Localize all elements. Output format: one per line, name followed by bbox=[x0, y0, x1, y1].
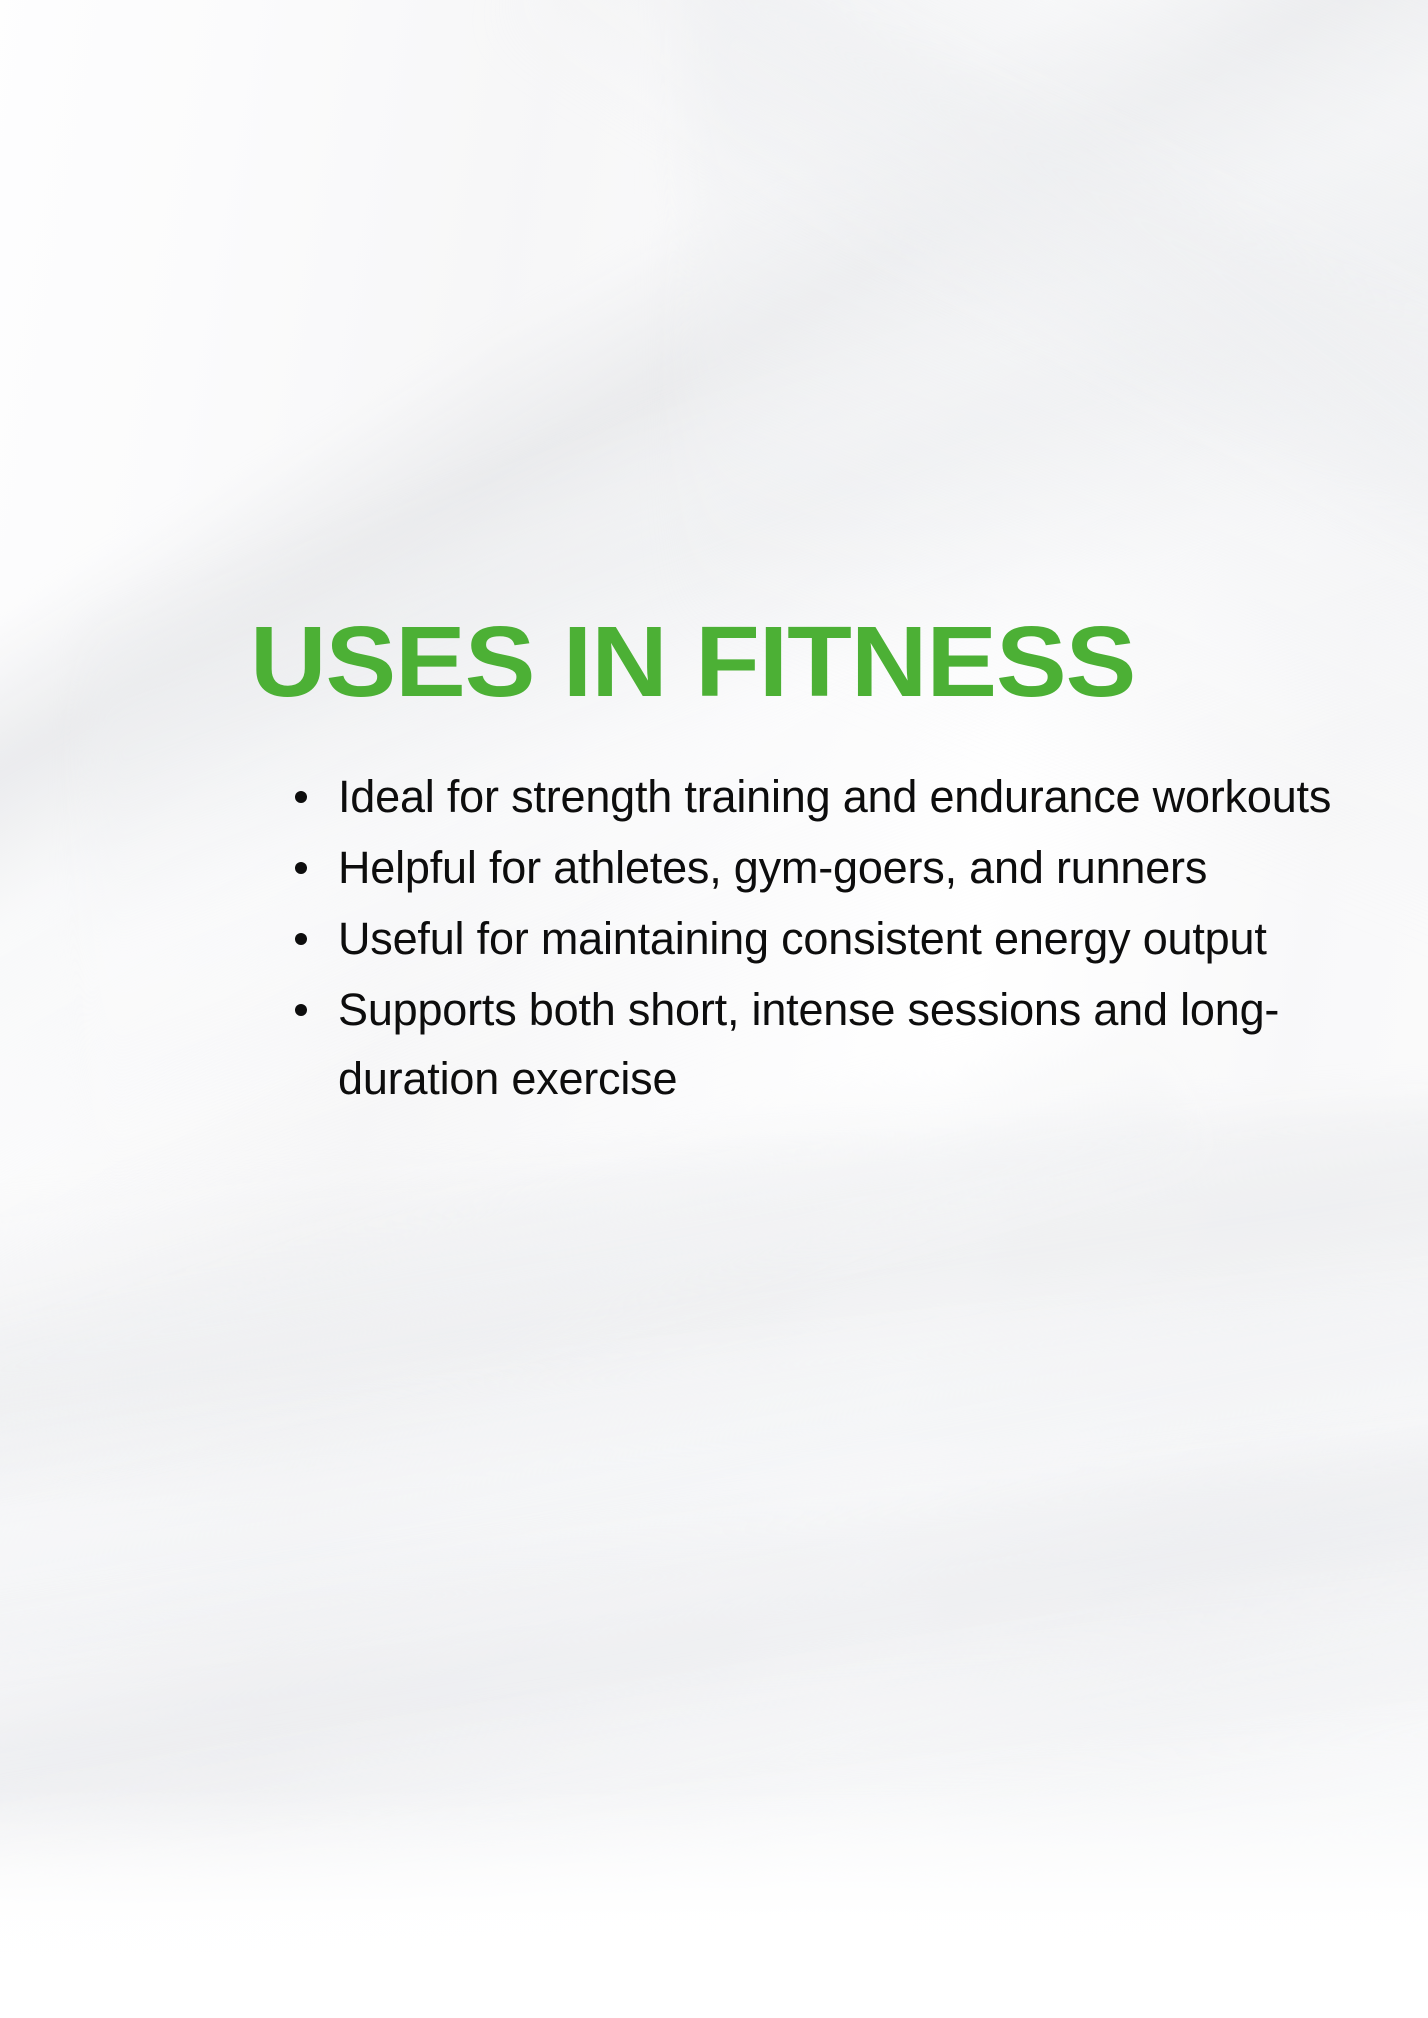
bullet-point-icon bbox=[295, 791, 307, 803]
list-item-label: Ideal for strength training and enduranc… bbox=[338, 762, 1405, 831]
slide-content: USES IN FITNESS Ideal for strength train… bbox=[0, 0, 1428, 2018]
list-item-label: Useful for maintaining consistent energy… bbox=[338, 904, 1405, 973]
page-title: USES IN FITNESS bbox=[250, 612, 1135, 712]
slide-canvas: USES IN FITNESS Ideal for strength train… bbox=[0, 0, 1428, 2018]
bullet-point-icon bbox=[295, 862, 307, 874]
bullet-list: Ideal for strength training and enduranc… bbox=[290, 762, 1405, 1115]
bullet-point-icon bbox=[295, 1004, 307, 1016]
list-item: Useful for maintaining consistent energy… bbox=[290, 904, 1405, 973]
list-item: Helpful for athletes, gym-goers, and run… bbox=[290, 833, 1405, 902]
list-item-label: Supports both short, intense sessions an… bbox=[338, 975, 1405, 1113]
bullet-point-icon bbox=[295, 933, 307, 945]
list-item: Ideal for strength training and enduranc… bbox=[290, 762, 1405, 831]
list-item: Supports both short, intense sessions an… bbox=[290, 975, 1405, 1113]
list-item-label: Helpful for athletes, gym-goers, and run… bbox=[338, 833, 1405, 902]
